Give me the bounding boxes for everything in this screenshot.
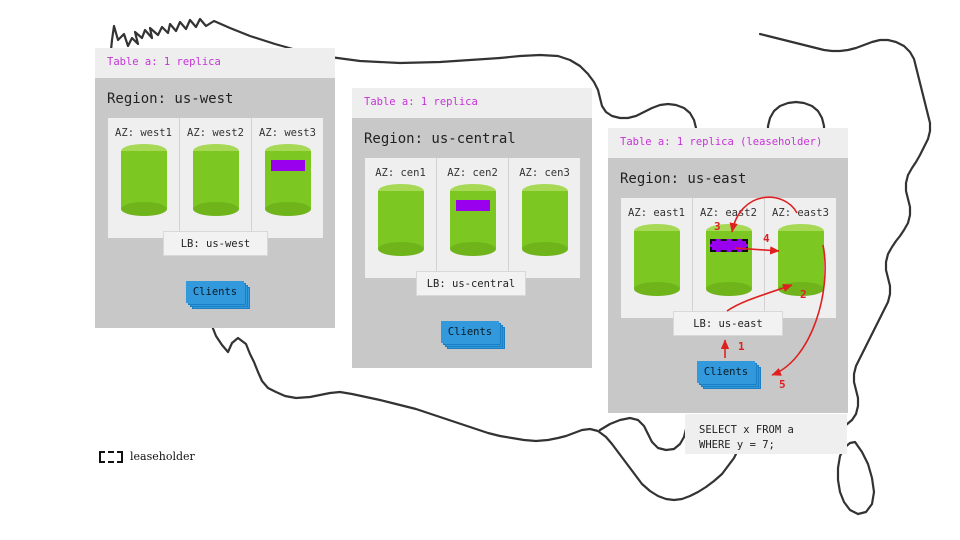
dashed-rect-icon bbox=[99, 451, 123, 463]
arrow-step-number-4: 4 bbox=[763, 232, 770, 245]
clients-label[interactable]: Clients bbox=[186, 281, 244, 303]
diagram-canvas: Table a: 1 replica Region: us-west AZ: w… bbox=[0, 0, 960, 540]
arrow-step-2 bbox=[727, 285, 792, 311]
arrow-step-number-1: 1 bbox=[738, 340, 745, 353]
arrow-step-number-5: 5 bbox=[779, 378, 786, 391]
clients-label[interactable]: Clients bbox=[697, 361, 755, 383]
arrow-step-number-3: 3 bbox=[714, 220, 721, 233]
arrow-step-5 bbox=[772, 245, 825, 375]
clients-label[interactable]: Clients bbox=[441, 321, 499, 343]
arrow-step-4 bbox=[735, 248, 779, 251]
arrow-step-number-2: 2 bbox=[800, 288, 807, 301]
legend-label: leaseholder bbox=[130, 450, 195, 463]
legend-leaseholder: leaseholder bbox=[99, 450, 195, 463]
arrow-step-3 bbox=[732, 197, 797, 232]
